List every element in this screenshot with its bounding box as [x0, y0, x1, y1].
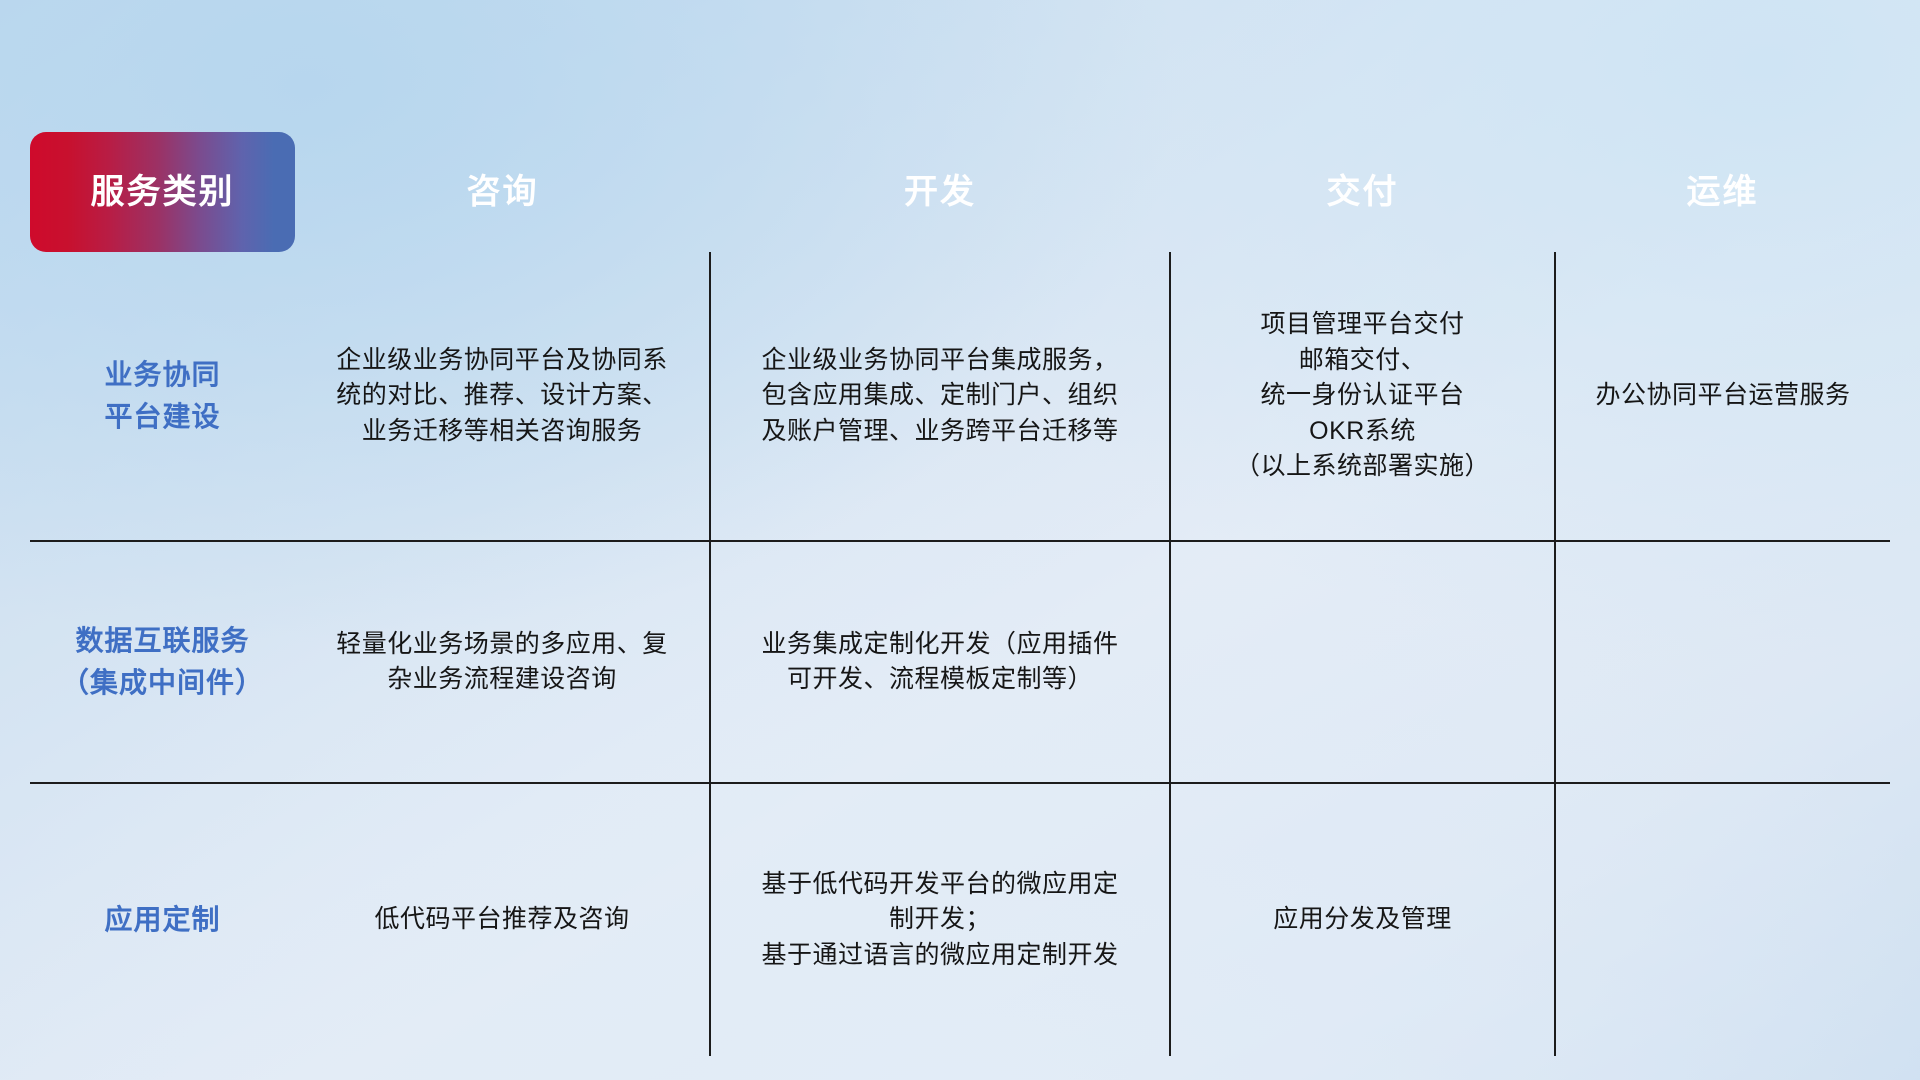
cell-consulting-text: 轻量化业务场景的多应用、复 杂业务流程建设咨询 — [317, 627, 687, 698]
service-matrix-table-wrapper: 服务类别 咨询 开发 交付 运维 — [30, 132, 1890, 1056]
column-header-operations: 运维 — [1555, 132, 1890, 252]
row-category-cell: 业务协同 平台建设 — [30, 252, 295, 541]
row-category-cell: 应用定制 — [30, 783, 295, 1056]
header-row: 服务类别 咨询 开发 交付 运维 — [30, 132, 1890, 252]
cell-operations: 办公协同平台运营服务 — [1555, 252, 1890, 541]
row-category-label: 数据互联服务 （集成中间件） — [52, 620, 273, 704]
cell-operations-text: 办公协同平台运营服务 — [1578, 378, 1868, 414]
row-category-label: 业务协同 平台建设 — [52, 354, 273, 438]
service-matrix-table: 服务类别 咨询 开发 交付 运维 — [30, 132, 1890, 1056]
column-header-delivery: 交付 — [1170, 132, 1555, 252]
cell-development-text: 基于低代码开发平台的微应用定 制开发； 基于通过语言的微应用定制开发 — [733, 867, 1147, 974]
column-header-consulting: 咨询 — [295, 132, 710, 252]
cell-consulting-text: 低代码平台推荐及咨询 — [317, 902, 687, 938]
cell-delivery-text: 项目管理平台交付 邮箱交付、 统一身份认证平台 OKR系统 （以上系统部署实施） — [1193, 307, 1532, 485]
cell-development: 业务集成定制化开发（应用插件 可开发、流程模板定制等） — [710, 541, 1170, 783]
cell-delivery: 项目管理平台交付 邮箱交付、 统一身份认证平台 OKR系统 （以上系统部署实施） — [1170, 252, 1555, 541]
row-category-label: 应用定制 — [52, 899, 273, 941]
column-header-consulting-label: 咨询 — [295, 132, 710, 252]
cell-consulting: 轻量化业务场景的多应用、复 杂业务流程建设咨询 — [295, 541, 710, 783]
column-header-development: 开发 — [710, 132, 1170, 252]
cell-operations — [1555, 541, 1890, 783]
table-header: 服务类别 咨询 开发 交付 运维 — [30, 132, 1890, 252]
column-header-delivery-label: 交付 — [1170, 132, 1555, 252]
column-header-category-label: 服务类别 — [30, 132, 295, 252]
cell-development-text: 企业级业务协同平台集成服务， 包含应用集成、定制门户、组织 及账户管理、业务跨平… — [733, 343, 1147, 450]
table-body: 业务协同 平台建设 企业级业务协同平台及协同系 统的对比、推荐、设计方案、 业务… — [30, 252, 1890, 1056]
cell-delivery — [1170, 541, 1555, 783]
cell-delivery-text: 应用分发及管理 — [1193, 902, 1532, 938]
cell-consulting: 企业级业务协同平台及协同系 统的对比、推荐、设计方案、 业务迁移等相关咨询服务 — [295, 252, 710, 541]
column-header-development-label: 开发 — [710, 132, 1170, 252]
cell-development: 基于低代码开发平台的微应用定 制开发； 基于通过语言的微应用定制开发 — [710, 783, 1170, 1056]
column-header-category: 服务类别 — [30, 132, 295, 252]
cell-consulting-text: 企业级业务协同平台及协同系 统的对比、推荐、设计方案、 业务迁移等相关咨询服务 — [317, 343, 687, 450]
table-row: 数据互联服务 （集成中间件） 轻量化业务场景的多应用、复 杂业务流程建设咨询 业… — [30, 541, 1890, 783]
table-row: 应用定制 低代码平台推荐及咨询 基于低代码开发平台的微应用定 制开发； 基于通过… — [30, 783, 1890, 1056]
cell-development: 企业级业务协同平台集成服务， 包含应用集成、定制门户、组织 及账户管理、业务跨平… — [710, 252, 1170, 541]
cell-consulting: 低代码平台推荐及咨询 — [295, 783, 710, 1056]
cell-development-text: 业务集成定制化开发（应用插件 可开发、流程模板定制等） — [733, 627, 1147, 698]
column-header-operations-label: 运维 — [1555, 132, 1890, 252]
row-category-cell: 数据互联服务 （集成中间件） — [30, 541, 295, 783]
cell-operations — [1555, 783, 1890, 1056]
slide-canvas: 服务类别 咨询 开发 交付 运维 — [0, 0, 1920, 1080]
table-row: 业务协同 平台建设 企业级业务协同平台及协同系 统的对比、推荐、设计方案、 业务… — [30, 252, 1890, 541]
cell-delivery: 应用分发及管理 — [1170, 783, 1555, 1056]
